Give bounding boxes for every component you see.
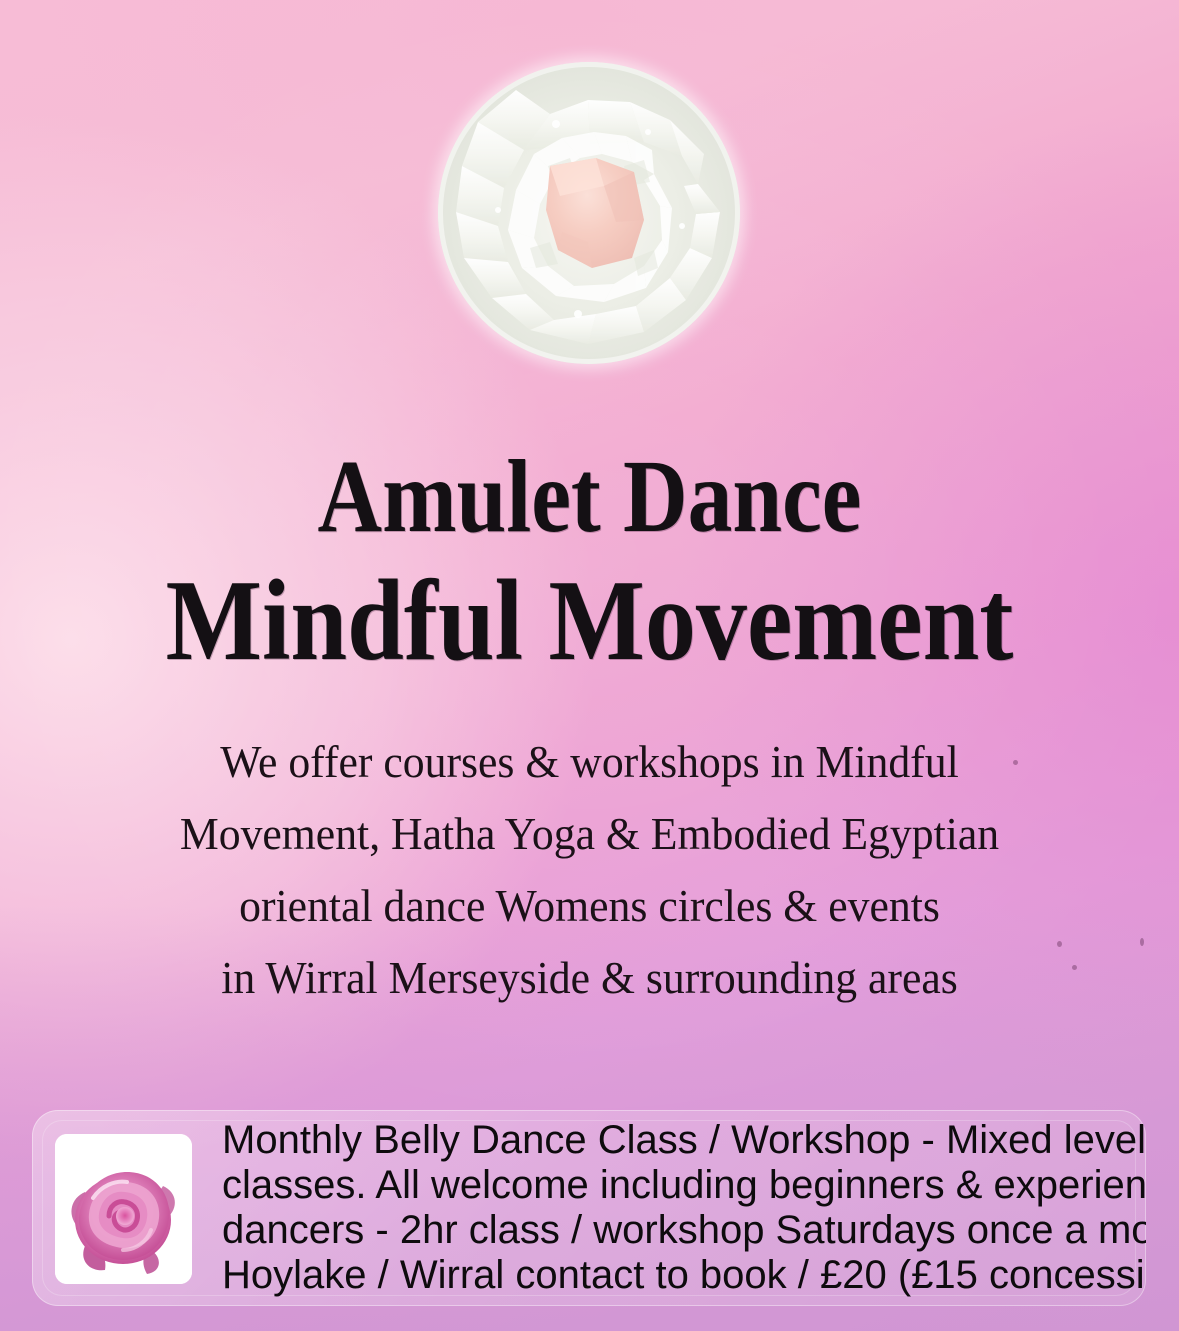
photo-artifact-speck: [1072, 965, 1077, 970]
page-title: Amulet Dance Mindful Movement: [0, 445, 1179, 679]
rose-quartz-geode-photo: [438, 62, 740, 364]
class-info-text: Monthly Belly Dance Class / Workshop - M…: [222, 1118, 1122, 1298]
photo-artifact-speck: [1057, 941, 1062, 947]
intro-line-1: We offer courses & workshops in Mindful: [29, 726, 1149, 798]
class-info-line-2: classes. All welcome including beginners…: [222, 1163, 1122, 1208]
pink-rose-icon: [55, 1134, 192, 1284]
intro-line-2: Movement, Hatha Yoga & Embodied Egyptian: [29, 798, 1149, 870]
hero-image-container: [438, 62, 740, 364]
poster-canvas: Amulet Dance Mindful Movement We offer c…: [0, 0, 1179, 1331]
photo-artifact-speck: [1013, 760, 1018, 765]
intro-line-3: oriental dance Womens circles & events: [29, 870, 1149, 942]
intro-line-4: in Wirral Merseyside & surrounding areas: [29, 942, 1149, 1014]
class-info-line-3: dancers - 2hr class / workshop Saturdays…: [222, 1208, 1122, 1253]
page-title-line-1: Amulet Dance: [83, 445, 1097, 549]
class-info-card[interactable]: Monthly Belly Dance Class / Workshop - M…: [32, 1110, 1146, 1306]
class-info-line-1: Monthly Belly Dance Class / Workshop - M…: [222, 1118, 1122, 1163]
class-info-line-4: Hoylake / Wirral contact to book / £20 (…: [222, 1253, 1122, 1298]
page-title-line-2: Mindful Movement: [71, 563, 1109, 679]
intro-paragraph: We offer courses & workshops in Mindful …: [0, 726, 1179, 1014]
photo-artifact-speck: [1140, 938, 1144, 946]
